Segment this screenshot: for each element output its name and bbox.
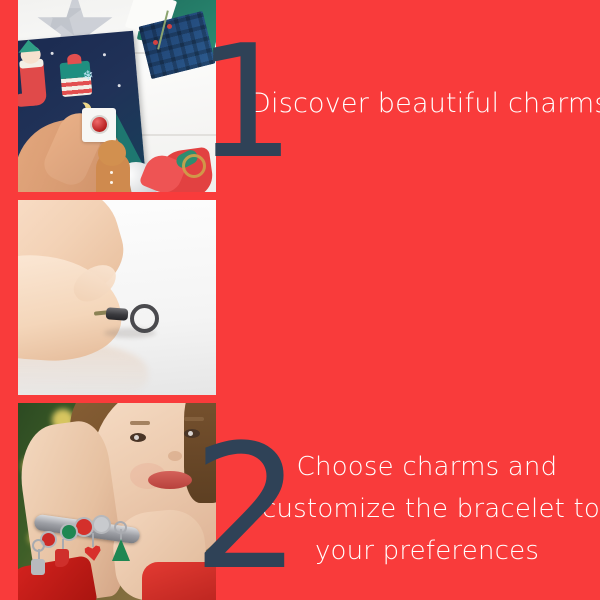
berry-2 bbox=[153, 40, 158, 45]
bracelet-bead-green bbox=[62, 525, 76, 539]
girl-nose bbox=[168, 451, 182, 461]
christmas-tree-charm-icon bbox=[112, 539, 130, 561]
step-2: 2 Choose charms and customize the bracel… bbox=[0, 200, 600, 395]
charm-dangle-3 bbox=[62, 539, 64, 549]
step-1-caption: Discover beautiful charms bbox=[250, 82, 590, 126]
step-2-numeral: 2 bbox=[192, 422, 298, 594]
step-3-photo-content bbox=[18, 403, 216, 600]
silver-charm-icon bbox=[31, 559, 45, 575]
snow-dot-2 bbox=[103, 53, 106, 56]
gingerbread-head-icon bbox=[98, 140, 126, 166]
gingerbread-button-1 bbox=[110, 171, 113, 174]
how-it-works-poster: ❄ ❄ ❄ bbox=[0, 0, 600, 600]
step-1-numeral: 1 bbox=[196, 24, 292, 180]
bracelet-bead-red bbox=[76, 519, 92, 535]
step-1-photo: ❄ ❄ ❄ bbox=[18, 0, 216, 192]
gingerbread-button-2 bbox=[110, 181, 113, 184]
snow-dot-3 bbox=[118, 84, 121, 87]
red-charm-bead bbox=[92, 117, 107, 132]
step-1-caption-line-1: Discover beautiful charms bbox=[250, 82, 590, 126]
clasp-body bbox=[106, 307, 129, 321]
step-2-caption-line-3: your preferences bbox=[262, 530, 592, 572]
stocking-charm-icon bbox=[55, 549, 69, 567]
step-3-photo bbox=[18, 403, 216, 600]
step-2-caption-line-2: customize the bracelet to bbox=[262, 488, 592, 530]
girl-lips bbox=[148, 471, 192, 489]
calendar-gift-bow-icon bbox=[67, 53, 82, 64]
step-2-caption-line-1: Choose charms and bbox=[262, 446, 592, 488]
girl-eyebrow-left bbox=[130, 421, 150, 425]
snow-dot-1 bbox=[50, 52, 53, 55]
step-1: ❄ ❄ ❄ bbox=[0, 0, 600, 192]
girl-eye-left bbox=[130, 433, 146, 442]
eye-highlight-left bbox=[134, 435, 139, 440]
step-2-photo-content bbox=[18, 200, 216, 395]
calendar-elf-hat-icon bbox=[18, 39, 40, 53]
charm-dangle-1 bbox=[92, 533, 94, 547]
step-2-photo bbox=[18, 200, 216, 395]
step-2-caption: Choose charms and customize the bracelet… bbox=[262, 446, 592, 572]
bracelet-bead-silver bbox=[94, 517, 109, 532]
berry-1 bbox=[167, 24, 172, 29]
snowflake-icon-1: ❄ bbox=[82, 68, 94, 82]
step-1-photo-content: ❄ ❄ ❄ bbox=[18, 0, 216, 192]
clasp-jump-ring bbox=[130, 304, 159, 333]
